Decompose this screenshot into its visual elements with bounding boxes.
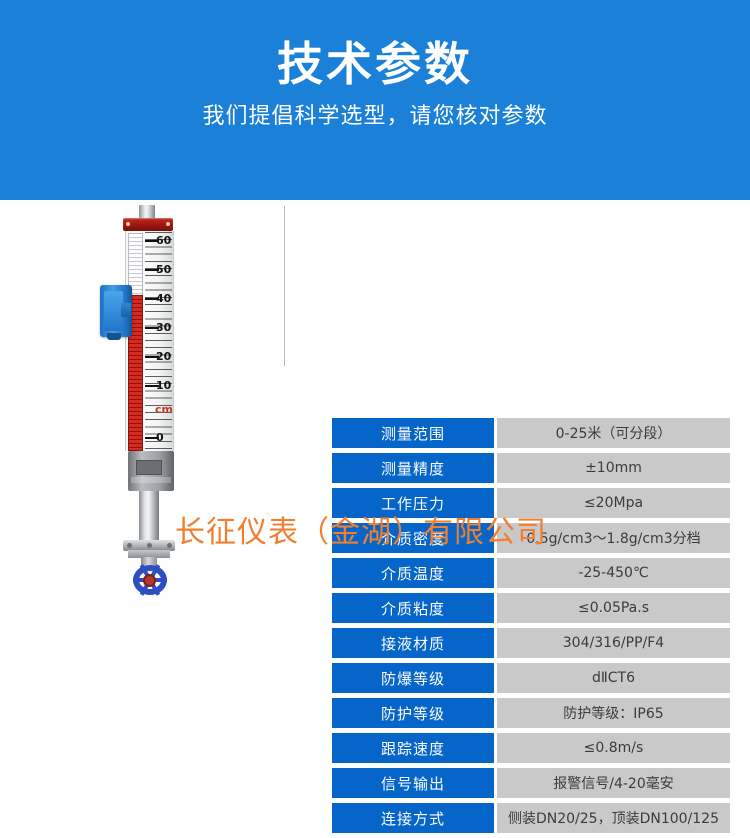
table-row: 介质粘度 ≤0.05Pa.s <box>332 593 730 623</box>
level-gauge-illustration: 60 50 40 30 20 10 cm 0 <box>95 205 210 605</box>
spec-label: 介质密度 <box>332 523 494 553</box>
spec-value: 侧装DN20/25，顶装DN100/125 <box>497 803 730 833</box>
gauge-top-cap-bolt-right-icon <box>166 222 170 226</box>
scale-label-60: 60 <box>156 235 171 246</box>
spec-value: ≤0.8m/s <box>497 733 730 763</box>
spec-value: ≤20Mpa <box>497 488 730 518</box>
scale-label-20: 20 <box>156 351 171 362</box>
spec-value: dⅡCT6 <box>497 663 730 693</box>
spec-value: 304/316/PP/F4 <box>497 628 730 658</box>
table-row: 测量精度 ±10mm <box>332 453 730 483</box>
spec-value: 0-25米（可分段） <box>497 418 730 448</box>
spec-value: -25-450℃ <box>497 558 730 588</box>
spec-label: 介质温度 <box>332 558 494 588</box>
scale-unit-label: cm <box>155 404 173 415</box>
valve-hub-icon <box>143 574 156 587</box>
flange-bolt-icon <box>147 543 152 548</box>
vertical-divider <box>284 206 285 366</box>
table-row: 介质温度 -25-450℃ <box>332 558 730 588</box>
spec-label: 工作压力 <box>332 488 494 518</box>
table-row: 防爆等级 dⅡCT6 <box>332 663 730 693</box>
table-row: 工作压力 ≤20Mpa <box>332 488 730 518</box>
table-row: 信号输出 报警信号/4-20毫安 <box>332 768 730 798</box>
scale-label-40: 40 <box>156 293 171 304</box>
spec-value: ≤0.05Pa.s <box>497 593 730 623</box>
gauge-top-cap-bolt-left-icon <box>126 222 130 226</box>
table-row: 防护等级 防护等级：IP65 <box>332 698 730 728</box>
transmitter-cable-icon <box>107 333 121 340</box>
spec-label: 连接方式 <box>332 803 494 833</box>
spec-value: ±10mm <box>497 453 730 483</box>
spec-label: 跟踪速度 <box>332 733 494 763</box>
content-area: 60 50 40 30 20 10 cm 0 <box>0 200 750 657</box>
scale-label-10: 10 <box>156 380 171 391</box>
flange-bolt-icon <box>167 543 172 548</box>
transmitter-neck-icon <box>121 303 131 317</box>
spec-value: 防护等级：IP65 <box>497 698 730 728</box>
page-title: 技术参数 <box>0 36 750 92</box>
scale-label-30: 30 <box>156 322 171 333</box>
spec-label: 测量范围 <box>332 418 494 448</box>
spec-label: 信号输出 <box>332 768 494 798</box>
flange-bolt-icon <box>127 543 132 548</box>
table-row: 跟踪速度 ≤0.8m/s <box>332 733 730 763</box>
pipe-stem-icon <box>139 491 159 541</box>
gauge-top-nipple-icon <box>139 205 155 219</box>
scale-label-50: 50 <box>156 264 171 275</box>
spec-value: 0.5g/cm3～1.8g/cm3分档 <box>497 523 730 553</box>
spec-label: 防护等级 <box>332 698 494 728</box>
indicator-screen-icon <box>136 460 162 475</box>
header-banner: 技术参数 我们提倡科学选型，请您核对参数 <box>0 0 750 200</box>
page-subtitle: 我们提倡科学选型，请您核对参数 <box>0 101 750 131</box>
spec-table: 测量范围 0-25米（可分段） 测量精度 ±10mm 工作压力 ≤20Mpa 介… <box>332 418 730 838</box>
spec-label: 测量精度 <box>332 453 494 483</box>
spec-label: 介质粘度 <box>332 593 494 623</box>
indicator-nameplate-icon <box>131 477 171 483</box>
spec-label: 接液材质 <box>332 628 494 658</box>
table-row: 介质密度 0.5g/cm3～1.8g/cm3分档 <box>332 523 730 553</box>
spec-value: 报警信号/4-20毫安 <box>497 768 730 798</box>
scale-label-0: 0 <box>156 432 164 443</box>
table-row: 测量范围 0-25米（可分段） <box>332 418 730 448</box>
spec-label: 防爆等级 <box>332 663 494 693</box>
table-row: 连接方式 侧装DN20/25，顶装DN100/125 <box>332 803 730 833</box>
table-row: 接液材质 304/316/PP/F4 <box>332 628 730 658</box>
